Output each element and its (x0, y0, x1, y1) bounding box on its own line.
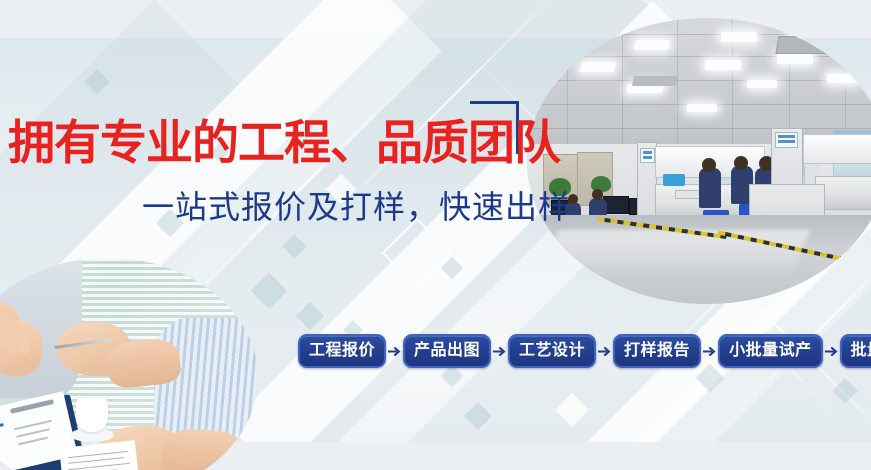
office-worker-head (592, 189, 603, 200)
coffee-cup (76, 398, 108, 432)
process-step-4[interactable]: 打样报告 (613, 334, 701, 368)
process-step-3[interactable]: 工艺设计 (508, 334, 596, 368)
bg-diamond-outline (382, 218, 453, 289)
arrow-right-icon (386, 347, 403, 356)
ceiling-light (634, 40, 670, 50)
bg-diamond (282, 234, 306, 258)
ceiling-light (541, 36, 574, 46)
ceiling-grid-line (527, 80, 871, 81)
ceiling-grid-line (527, 56, 871, 57)
promo-banner: 拥有专业的工程、品质团队 一站式报价及打样，快速出样 工程报价 产品出图 工艺设… (0, 0, 871, 470)
ceiling-grid-line (677, 18, 678, 152)
bg-diamond (441, 257, 464, 280)
ceiling-light (747, 80, 777, 88)
ceiling-light (705, 60, 741, 70)
process-step-2[interactable]: 产品出图 (403, 334, 491, 368)
process-step-6[interactable]: 批量量产 (840, 334, 871, 368)
bg-diamond (696, 364, 724, 392)
bg-diamond (296, 302, 324, 330)
bg-diamond (464, 402, 492, 430)
ceiling-vent (632, 76, 678, 86)
arrow-right-icon (596, 347, 613, 356)
arrow-right-icon (491, 347, 508, 356)
blue-parts-bin (663, 174, 685, 186)
office-worker-head (702, 158, 716, 172)
business-meeting-photo (0, 258, 258, 470)
arrow-right-icon (823, 347, 840, 356)
office-workshop-photo (527, 18, 871, 304)
arrow-right-icon (701, 347, 718, 356)
ceiling-grid-line (622, 18, 623, 152)
process-step-1[interactable]: 工程报价 (298, 334, 386, 368)
ceiling-light (827, 74, 859, 83)
bg-diamond (441, 365, 464, 388)
page-title: 拥有专业的工程、品质团队 (8, 118, 560, 168)
partition-label (640, 148, 655, 163)
bg-diamond (555, 393, 589, 427)
bg-diamond (84, 69, 109, 94)
ceiling-grid-line (527, 128, 871, 129)
process-step-5[interactable]: 小批量试产 (718, 334, 823, 368)
partition-label (775, 132, 798, 148)
office-scene (527, 18, 871, 304)
ceiling-light (580, 62, 617, 72)
ceiling-light (687, 104, 717, 112)
finger (20, 326, 31, 354)
floor-reflection (539, 230, 809, 276)
process-flow: 工程报价 产品出图 工艺设计 打样报告 小批量试产 批量量产 (298, 334, 871, 368)
ceiling-light (777, 54, 813, 64)
meeting-scene (0, 258, 258, 470)
ceiling-light (721, 32, 757, 42)
page-subtitle: 一站式报价及打样，快速出样 (142, 182, 571, 228)
bg-diamond (832, 378, 857, 403)
office-worker-head (734, 156, 748, 170)
office-worker (699, 168, 721, 208)
ceiling-vent (775, 36, 840, 54)
workbench-hood (803, 134, 871, 164)
